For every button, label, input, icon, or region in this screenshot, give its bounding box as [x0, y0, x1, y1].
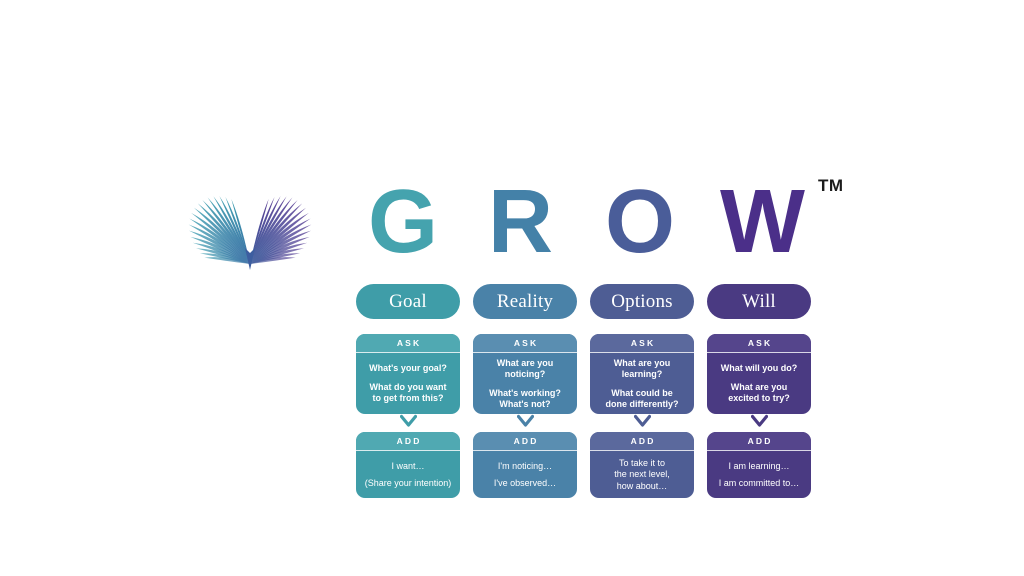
card-text-line: What could bedone differently?	[605, 388, 678, 411]
card-text-line: I've observed…	[494, 478, 556, 490]
ask-card-header: ASK	[590, 334, 694, 353]
add-card-options[interactable]: ADDTo take it tothe next level,how about…	[590, 432, 694, 498]
spread-wings-logo	[174, 176, 326, 272]
card-text-line: What's your goal?	[369, 363, 447, 375]
add-card-body: I am learning…I am committed to…	[707, 451, 811, 498]
card-text-line: I am learning…	[728, 461, 789, 473]
grow-column-goal: GoalASKWhat's your goal?What do you want…	[356, 284, 460, 500]
ask-card-header: ASK	[356, 334, 460, 353]
add-card-goal[interactable]: ADDI want…(Share your intention)	[356, 432, 460, 498]
wordmark-letter-o: O	[605, 174, 675, 270]
add-card-header: ADD	[707, 432, 811, 451]
card-text-line: What are younoticing?	[497, 358, 554, 381]
ask-card-will[interactable]: ASKWhat will you do?What are youexcited …	[707, 334, 811, 414]
stage-pill-reality[interactable]: Reality	[473, 284, 577, 319]
ask-card-body: What are younoticing?What's working?What…	[473, 353, 577, 414]
stage-pill-goal[interactable]: Goal	[356, 284, 460, 319]
add-card-header: ADD	[590, 432, 694, 451]
ask-card-reality[interactable]: ASKWhat are younoticing?What's working?W…	[473, 334, 577, 414]
card-text-line: To take it tothe next level,how about…	[614, 458, 670, 493]
add-card-body: To take it tothe next level,how about…	[590, 451, 694, 498]
add-card-body: I'm noticing…I've observed…	[473, 451, 577, 498]
card-text-line: What are youlearning?	[614, 358, 671, 381]
card-text-line: I am committed to…	[719, 478, 800, 490]
ask-card-options[interactable]: ASKWhat are youlearning?What could bedon…	[590, 334, 694, 414]
trademark-symbol: TM	[818, 176, 844, 196]
ask-card-header: ASK	[473, 334, 577, 353]
grow-column-reality: RealityASKWhat are younoticing?What's wo…	[473, 284, 577, 500]
card-text-line: (Share your intention)	[365, 478, 452, 490]
card-text-line: What are youexcited to try?	[728, 382, 790, 405]
grow-wordmark: G R O W TM	[368, 174, 848, 270]
grow-column-options: OptionsASKWhat are youlearning?What coul…	[590, 284, 694, 500]
add-card-header: ADD	[473, 432, 577, 451]
wordmark-letter-g: G	[368, 174, 438, 270]
ask-card-goal[interactable]: ASKWhat's your goal?What do you wantto g…	[356, 334, 460, 414]
chevron-down-icon	[400, 414, 417, 428]
card-text-line: I'm noticing…	[498, 461, 552, 473]
spread-wings-icon	[174, 176, 326, 272]
ask-card-body: What will you do?What are youexcited to …	[707, 353, 811, 414]
wordmark-letter-r: R	[488, 174, 553, 270]
chevron-down-icon	[634, 414, 651, 428]
chevron-down-icon	[751, 414, 768, 428]
add-card-body: I want…(Share your intention)	[356, 451, 460, 498]
grow-column-will: WillASKWhat will you do?What are youexci…	[707, 284, 811, 500]
card-text-line: What will you do?	[721, 363, 798, 375]
add-card-header: ADD	[356, 432, 460, 451]
add-card-will[interactable]: ADDI am learning…I am committed to…	[707, 432, 811, 498]
card-text-line: What do you wantto get from this?	[370, 382, 447, 405]
card-text-line: I want…	[391, 461, 424, 473]
add-card-reality[interactable]: ADDI'm noticing…I've observed…	[473, 432, 577, 498]
chevron-down-icon	[517, 414, 534, 428]
wordmark-letter-w: W	[720, 174, 805, 270]
grow-model-columns: GoalASKWhat's your goal?What do you want…	[356, 284, 824, 500]
stage-pill-options[interactable]: Options	[590, 284, 694, 319]
ask-card-header: ASK	[707, 334, 811, 353]
stage-pill-will[interactable]: Will	[707, 284, 811, 319]
card-text-line: What's working?What's not?	[489, 388, 561, 411]
ask-card-body: What are youlearning?What could bedone d…	[590, 353, 694, 414]
ask-card-body: What's your goal?What do you wantto get …	[356, 353, 460, 414]
